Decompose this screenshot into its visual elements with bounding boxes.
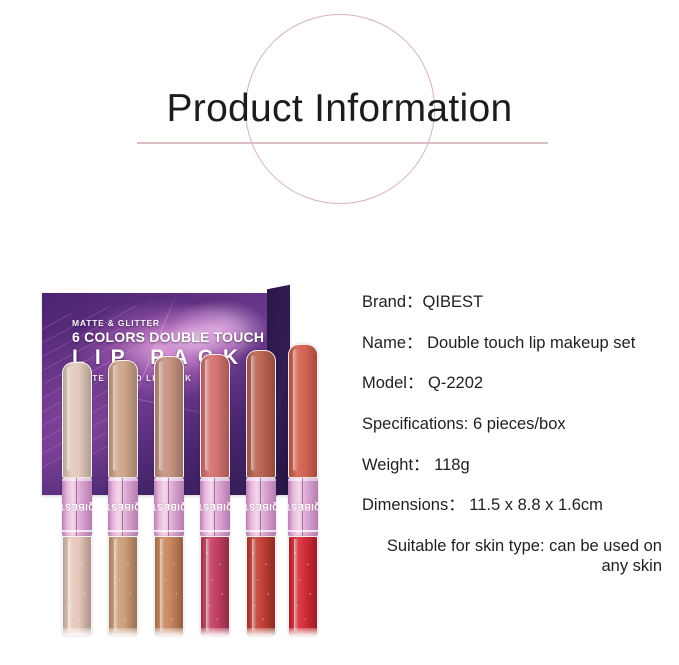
info-value-specifications: 6 pieces/box	[468, 415, 565, 433]
tube-brand-label: QIBEST	[288, 502, 318, 512]
info-value-name: Double touch lip makeup set	[423, 334, 636, 352]
header-divider-line	[137, 142, 548, 144]
tube-collar: QIBEST	[154, 478, 184, 536]
gloss-highlight	[206, 539, 210, 631]
collar-top-ring	[108, 478, 138, 481]
tube-collar: QIBEST	[288, 478, 318, 536]
box-headline: 6 COLORS DOUBLE TOUCH	[72, 329, 272, 345]
collar-top-ring	[246, 478, 276, 481]
tube-collar: QIBEST	[108, 478, 138, 536]
gloss-base-ring	[201, 628, 229, 635]
info-row-model: Model： Q-2202	[362, 373, 662, 394]
info-value-weight: 118g	[430, 456, 470, 474]
info-value-dimensions: 11.5 x 8.8 x 1.6cm	[465, 496, 603, 514]
tube-brand-label: QIBEST	[154, 502, 184, 512]
tube-matte-cap	[108, 360, 138, 478]
info-row-dimensions: Dimensions： 11.5 x 8.8 x 1.6cm	[362, 495, 662, 516]
gloss-base-ring	[155, 628, 183, 635]
collar-top-ring	[288, 478, 318, 481]
info-label-weight: Weight：	[362, 456, 430, 474]
gloss-base-ring	[109, 628, 137, 635]
gloss-base-ring	[289, 628, 317, 635]
info-row-weight: Weight： 118g	[362, 455, 662, 476]
lipstick-tube: QIBEST	[154, 356, 184, 636]
info-label-name: Name：	[362, 334, 423, 352]
tube-matte-cap	[246, 350, 276, 478]
lipstick-tube: QIBEST	[108, 360, 138, 636]
gloss-base-ring	[63, 628, 91, 635]
info-label-dimensions: Dimensions：	[362, 496, 465, 514]
gloss-base-ring	[247, 628, 275, 635]
tube-matte-cap	[288, 344, 318, 478]
lipstick-tube: QIBEST	[62, 362, 92, 636]
info-row-suitable-skin-type: Suitable for skin type: can be used on a…	[362, 536, 662, 577]
tube-matte-cap	[154, 356, 184, 478]
info-label-model: Model：	[362, 374, 423, 392]
gloss-highlight	[68, 539, 72, 631]
collar-bottom-ring	[154, 530, 184, 533]
tube-glitter-gloss	[62, 536, 92, 636]
info-row-specifications: Specifications: 6 pieces/box	[362, 414, 662, 435]
tube-collar: QIBEST	[200, 478, 230, 536]
collar-bottom-ring	[288, 530, 318, 533]
page-title: Product Information	[0, 89, 679, 128]
tube-collar: QIBEST	[62, 478, 92, 536]
tube-glitter-gloss	[246, 536, 276, 636]
gloss-highlight	[252, 539, 256, 631]
info-row-brand: Brand：QIBEST	[362, 292, 662, 313]
lipstick-tube: QIBEST	[288, 344, 318, 636]
tube-brand-label: QIBEST	[108, 502, 138, 512]
collar-top-ring	[62, 478, 92, 481]
gloss-highlight	[160, 539, 164, 631]
lipstick-tube: QIBEST	[200, 354, 230, 636]
tube-matte-cap	[200, 354, 230, 478]
tube-brand-label: QIBEST	[62, 502, 92, 512]
product-information-page: Product Information MATTE & GLITTER 6 CO…	[0, 0, 679, 665]
product-info-list: Brand：QIBEST Name： Double touch lip make…	[362, 292, 662, 577]
tube-glitter-gloss	[288, 536, 318, 636]
page-header: Product Information	[0, 0, 679, 240]
product-photo: MATTE & GLITTER 6 COLORS DOUBLE TOUCH LI…	[20, 270, 340, 620]
info-label-specifications: Specifications:	[362, 415, 468, 433]
lipstick-tube: QIBEST	[246, 350, 276, 636]
tube-glitter-gloss	[200, 536, 230, 636]
collar-top-ring	[200, 478, 230, 481]
tube-brand-label: QIBEST	[200, 502, 230, 512]
collar-bottom-ring	[246, 530, 276, 533]
tube-glitter-gloss	[108, 536, 138, 636]
gloss-highlight	[294, 539, 298, 631]
collar-top-ring	[154, 478, 184, 481]
tube-glitter-gloss	[154, 536, 184, 636]
tube-brand-label: QIBEST	[246, 502, 276, 512]
tube-collar: QIBEST	[246, 478, 276, 536]
collar-bottom-ring	[62, 530, 92, 533]
gloss-highlight	[114, 539, 118, 631]
info-row-name: Name： Double touch lip makeup set	[362, 333, 662, 354]
tube-matte-cap	[62, 362, 92, 478]
info-value-brand: QIBEST	[423, 293, 484, 311]
collar-bottom-ring	[200, 530, 230, 533]
collar-bottom-ring	[108, 530, 138, 533]
info-value-model: Q-2202	[423, 374, 483, 392]
info-label-brand: Brand：	[362, 293, 423, 311]
box-tagline: MATTE & GLITTER	[72, 318, 272, 328]
